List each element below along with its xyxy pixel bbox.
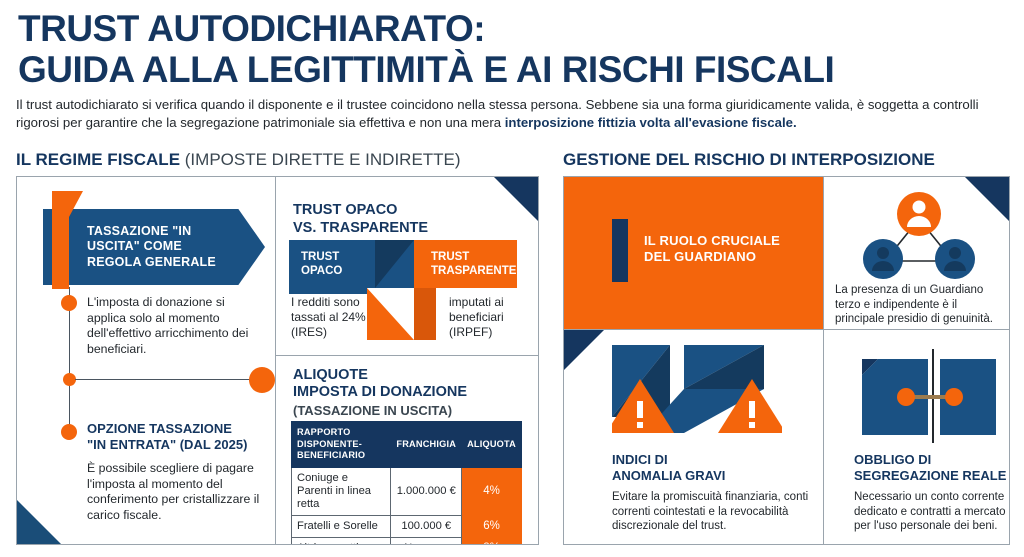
right-panel-horizontal-divider — [564, 329, 1010, 330]
aliquote-subtitle: (TASSAZIONE IN USCITA) — [293, 403, 452, 418]
corner-triangle-top-right — [494, 177, 538, 221]
guardian-network-icon — [859, 189, 979, 281]
intro-text: Il trust autodichiarato si verifica quan… — [16, 97, 979, 130]
column-header-relation: RAPPORTO DISPONENTE-BENEFICIARIO — [292, 422, 391, 468]
guardian-accent-bar — [612, 219, 628, 282]
cell-franchigia: Nessuna — [391, 537, 462, 545]
left-panel-horizontal-divider — [275, 355, 539, 356]
segregation-svg — [854, 347, 1000, 447]
segregation-body: Necessario un conto corrente dedicato e … — [854, 490, 1009, 534]
timeline-dot-3 — [61, 424, 77, 440]
table-row: Coniuge e Parenti in linea retta 1.000.0… — [292, 467, 522, 515]
segregation-icon — [854, 347, 1000, 447]
accent-bar-orange — [52, 191, 69, 289]
title-line-1: TRUST AUTODICHIARATO: — [18, 8, 1008, 49]
aliquote-title: ALIQUOTE IMPOSTA DI DONAZIONE — [293, 367, 467, 401]
column-header-aliquota: ALIQUOTA — [462, 422, 522, 468]
timeline-junction-dot — [249, 367, 275, 393]
cell-aliquota: 8% — [462, 537, 522, 545]
section-heading-left: IL REGIME FISCALE (IMPOSTE DIRETTE E IND… — [16, 150, 461, 170]
caption-trust-opaco: I redditi sono tassati al 24% (IRES) — [291, 295, 371, 340]
panel-risk-management: IL RUOLO CRUCIALE DEL GUARDIANO La prese… — [563, 176, 1010, 545]
cell-franchigia: 100.000 € — [391, 515, 462, 537]
graphic-triangle-orange-dark — [414, 288, 436, 340]
label-trust-trasparente: TRUST TRASPARENTE — [431, 250, 516, 278]
table-header-row: RAPPORTO DISPONENTE-BENEFICIARIO FRANCHI… — [292, 422, 522, 468]
opaco-vs-trasparente-title: TRUST OPACO VS. TRASPARENTE — [293, 201, 428, 237]
page-title: TRUST AUTODICHIARATO: GUIDA ALLA LEGITTI… — [18, 8, 1008, 90]
section-heading-left-strong: IL REGIME FISCALE — [16, 150, 180, 169]
column-header-franchigia: FRANCHIGIA — [391, 422, 462, 468]
cell-aliquota: 4% — [462, 467, 522, 515]
intro-emphasis: interposizione fittizia volta all'evasio… — [505, 115, 797, 130]
infographic-page: TRUST AUTODICHIARATO: GUIDA ALLA LEGITTI… — [0, 0, 1024, 557]
section-heading-right: GESTIONE DEL RISCHIO DI INTERPOSIZIONE — [563, 150, 935, 170]
section-heading-right-strong: GESTIONE DEL RISCHIO DI INTERPOSIZIONE — [563, 150, 935, 169]
anomaly-title: INDICI DI ANOMALIA GRAVI — [612, 452, 725, 484]
graphic-triangle-dark — [375, 240, 414, 288]
intro-paragraph: Il trust autodichiarato si verifica quan… — [16, 96, 1011, 132]
title-line-2: GUIDA ALLA LEGITTIMITÀ E AI RISCHI FISCA… — [18, 49, 1008, 90]
cell-aliquota: 6% — [462, 515, 522, 537]
graphic-block-blue-lower — [289, 288, 367, 294]
graphic-triangle-orange — [367, 288, 414, 340]
cell-franchigia: 1.000.000 € — [391, 467, 462, 515]
bullet-2-title: OPZIONE TASSAZIONE "IN ENTRATA" (DAL 202… — [87, 421, 272, 453]
section-heading-left-light: (IMPOSTE DIRETTE E INDIRETTE) — [180, 150, 461, 169]
guardian-network-svg — [859, 189, 979, 281]
corner-triangle-bottom-left — [17, 500, 61, 544]
accent-bar-orange-tip — [69, 191, 83, 217]
anomaly-body: Evitare la promiscuità finanziaria, cont… — [612, 490, 812, 534]
panel-fiscal-regime: TASSAZIONE "IN USCITA" COME REGOLA GENER… — [16, 176, 539, 545]
caption-trust-trasparente: imputati ai beneficiari (IRPEF) — [449, 295, 524, 340]
segregation-title: OBBLIGO DI SEGREGAZIONE REALE — [854, 452, 1006, 484]
cell-relation: Coniuge e Parenti in linea retta — [292, 467, 391, 515]
right-panel-vertical-divider — [823, 177, 824, 545]
banner-tassazione-uscita: TASSAZIONE "IN USCITA" COME REGOLA GENER… — [43, 209, 265, 285]
table-row: Altri soggetti Nessuna 8% — [292, 537, 522, 545]
table-row: Fratelli e Sorelle 100.000 € 6% — [292, 515, 522, 537]
guardian-block: IL RUOLO CRUCIALE DEL GUARDIANO — [564, 177, 823, 329]
rates-table: RAPPORTO DISPONENTE-BENEFICIARIO FRANCHI… — [291, 421, 522, 545]
label-trust-opaco: TRUST OPACO — [301, 250, 342, 278]
anomaly-warning-icon — [612, 345, 782, 447]
left-panel-vertical-divider — [275, 177, 276, 545]
bullet-2-text: È possibile scegliere di pagare l'impost… — [87, 461, 265, 523]
guardian-caption: La presenza di un Guardiano terzo e indi… — [835, 283, 1000, 327]
cell-relation: Fratelli e Sorelle — [292, 515, 391, 537]
timeline-horizontal-line — [75, 379, 253, 380]
guardian-label: IL RUOLO CRUCIALE DEL GUARDIANO — [644, 233, 780, 265]
bullet-1-text: L'imposta di donazione si applica solo a… — [87, 295, 252, 357]
corner-triangle-quadrant-anomalies — [564, 330, 604, 370]
anomaly-warning-svg — [612, 345, 782, 447]
timeline-dot-1 — [61, 295, 77, 311]
cell-relation: Altri soggetti — [292, 537, 391, 545]
